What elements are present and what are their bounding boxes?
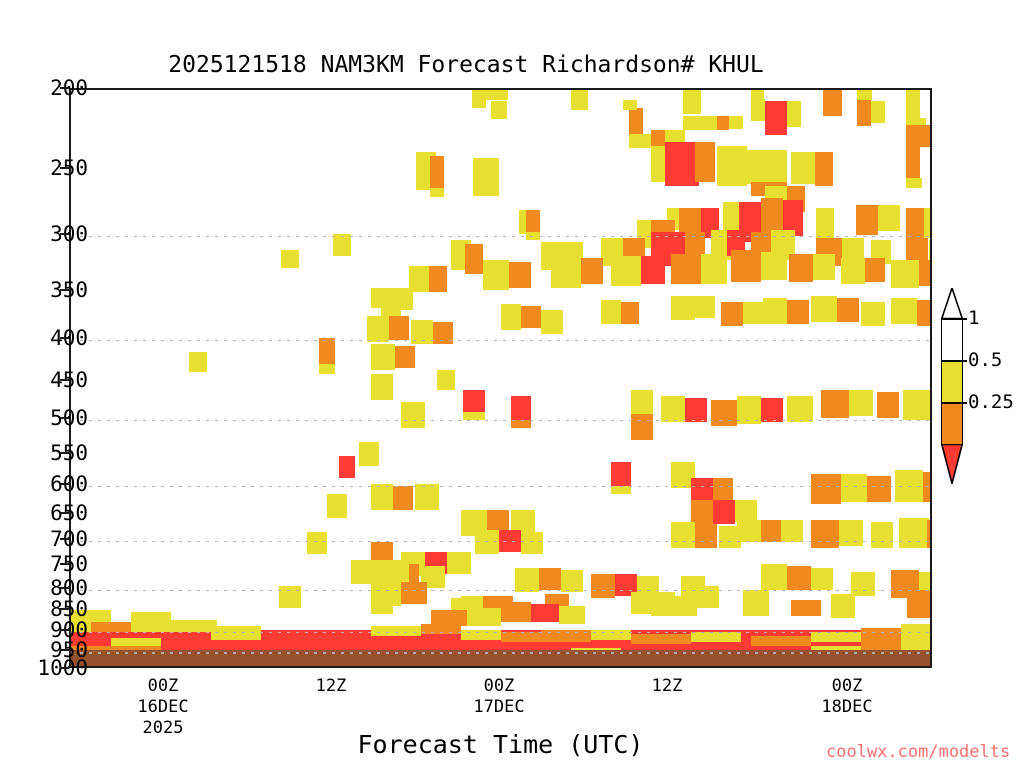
colorbar-tick-mark — [941, 402, 967, 404]
heatmap-cell — [601, 300, 621, 324]
y-tick-mark — [60, 233, 69, 235]
heatmap-cell — [865, 258, 885, 282]
heatmap-cell — [501, 602, 531, 622]
heatmap-cell — [841, 474, 867, 502]
plot-area — [69, 88, 932, 668]
y-tick-mark — [60, 379, 69, 381]
heatmap-cell — [761, 398, 783, 422]
heatmap-cell — [906, 90, 920, 120]
y-tick-label: 200 — [50, 76, 88, 100]
heatmap-cell — [903, 390, 930, 420]
heatmap-cell — [811, 296, 837, 322]
heatmap-cell — [927, 520, 930, 548]
heatmap-cell — [787, 396, 813, 422]
colorbar-segment-above-1 — [941, 318, 963, 360]
heatmap-cell — [591, 574, 615, 598]
heatmap-cell — [743, 590, 769, 616]
y-tick-label: 750 — [50, 552, 88, 576]
heatmap-cell — [685, 398, 707, 422]
heatmap-cell — [467, 608, 501, 626]
heatmap-cell — [421, 624, 461, 634]
heatmap-cell — [465, 244, 483, 274]
heatmap-cell — [891, 260, 919, 288]
heatmap-cell — [816, 208, 834, 242]
heatmap-cell — [747, 150, 787, 184]
heatmap-cell — [821, 390, 849, 418]
heatmap-cell — [351, 560, 381, 584]
heatmap-cell — [729, 116, 743, 129]
watermark: coolwx.com/modelts — [826, 742, 1010, 762]
heatmap-cell — [621, 302, 639, 324]
heatmap-cell — [906, 178, 922, 188]
heatmap-cell — [919, 260, 930, 286]
heatmap-cell — [189, 352, 207, 372]
heatmap-cell — [895, 470, 923, 502]
colorbar-tick-mark — [941, 360, 967, 362]
heatmap-cell — [429, 266, 447, 292]
heatmap-cell — [719, 526, 741, 548]
heatmap-cell — [381, 560, 409, 582]
heatmap-cell — [281, 250, 299, 268]
x-axis-label: Forecast Time (UTC) — [69, 730, 932, 759]
heatmap-cell — [906, 118, 926, 125]
heatmap-cell — [731, 250, 761, 282]
heatmap-cell — [511, 420, 531, 428]
y-tick-mark — [60, 452, 69, 454]
heatmap-cell — [631, 390, 653, 414]
y-tick-mark — [60, 87, 69, 89]
heatmap-cell — [551, 258, 581, 288]
heatmap-cell — [765, 101, 787, 135]
heatmap-cell — [447, 552, 471, 574]
heatmap-cell — [711, 400, 737, 426]
heatmap-cell — [561, 570, 583, 592]
heatmap-cell — [393, 288, 413, 310]
terrain-gridline — [71, 652, 930, 654]
heatmap-cell — [571, 90, 588, 110]
heatmap-cell — [839, 520, 863, 546]
heatmap-cell — [631, 592, 661, 614]
colorbar-bottom-arrow-icon — [941, 444, 963, 484]
heatmap-cell — [735, 500, 757, 522]
heatmap-cell — [717, 146, 747, 186]
heatmap-cell — [861, 302, 885, 326]
y-tick-mark — [60, 538, 69, 540]
y-tick-label: 500 — [50, 406, 88, 430]
heatmap-cell — [787, 300, 809, 324]
heatmap-cell — [665, 142, 699, 186]
heatmap-cell — [920, 125, 930, 147]
heatmap-cell — [371, 582, 401, 606]
heatmap-cell — [691, 632, 741, 642]
x-tick-label: 00Z17DEC — [473, 676, 524, 718]
heatmap-cell — [917, 300, 930, 326]
x-tick-date: 17DEC — [473, 697, 524, 718]
heatmap-cell — [279, 586, 301, 608]
y-tick-mark — [60, 608, 69, 610]
colorbar-tick-label: 0.25 — [968, 391, 1014, 413]
heatmap-cell — [631, 414, 653, 440]
heatmap-cell — [491, 101, 507, 119]
heatmap-cell — [371, 374, 393, 400]
heatmap-cell — [811, 520, 839, 548]
forecast-chart-page: 2025121518 NAM3KM Forecast Richardson# K… — [0, 0, 1024, 768]
x-tick-label: 12Z — [316, 676, 347, 697]
x-tick-date: 18DEC — [821, 697, 872, 718]
heatmap-cell — [815, 152, 833, 186]
heatmap-cell — [511, 396, 531, 420]
heatmap-cell — [472, 90, 486, 108]
y-tick-label: 350 — [50, 278, 88, 302]
heatmap-cell — [611, 486, 631, 494]
heatmap-cell — [781, 520, 803, 542]
heatmap-cell — [841, 258, 865, 284]
heatmap-cell — [411, 320, 433, 344]
heatmap-cell — [924, 208, 930, 238]
heatmap-cell — [899, 518, 929, 548]
heatmap-cell — [671, 296, 695, 320]
y-tick-label: 250 — [50, 156, 88, 180]
colorbar-tick-mark — [941, 318, 967, 320]
y-tick-mark — [60, 512, 69, 514]
heatmap-cell — [430, 156, 444, 190]
heatmap-cell — [486, 90, 508, 100]
heatmap-cell — [631, 634, 691, 644]
x-tick-time: 00Z — [473, 676, 524, 697]
heatmap-cell — [695, 142, 715, 182]
heatmap-cell — [671, 522, 695, 548]
heatmap-cell — [463, 412, 485, 420]
heatmap-cell — [521, 532, 543, 554]
y-tick-mark — [60, 649, 69, 651]
heatmap-cell — [509, 262, 531, 288]
heatmap-cell — [389, 316, 409, 340]
heatmap-cell — [671, 254, 701, 284]
heatmap-cell — [695, 296, 715, 318]
heatmap-cell — [371, 484, 393, 510]
heatmap-cell — [359, 442, 379, 466]
heatmap-cell — [167, 620, 217, 632]
heatmap-cell — [611, 462, 631, 486]
y-tick-mark — [60, 417, 69, 419]
heatmap-cell — [371, 288, 393, 308]
heatmap-cell — [393, 486, 413, 510]
heatmap-cell — [877, 392, 899, 418]
heatmap-cell — [789, 254, 813, 282]
y-tick-label: 800 — [50, 576, 88, 600]
heatmap-cell — [327, 494, 347, 518]
heatmap-cell — [623, 100, 637, 110]
colorbar-tick-label: 1 — [968, 307, 979, 329]
heatmap-cell — [463, 390, 485, 412]
heatmap-cell — [743, 302, 763, 324]
heatmap-cell — [823, 90, 842, 116]
heatmap-cell — [923, 472, 930, 502]
heatmap-cell — [559, 606, 585, 624]
y-tick-label: 650 — [50, 501, 88, 525]
colorbar — [941, 318, 963, 444]
heatmap-cell — [319, 364, 335, 374]
heatmap-cell — [691, 586, 719, 608]
heatmap-cell — [737, 396, 761, 424]
heatmap-cell — [849, 390, 873, 416]
heatmap-cell — [907, 590, 930, 618]
y-tick-mark — [60, 629, 69, 631]
heatmap-cell — [319, 338, 335, 364]
y-tick-label: 600 — [50, 472, 88, 496]
heatmap-cell — [791, 600, 821, 616]
chart-title: 2025121518 NAM3KM Forecast Richardson# K… — [0, 52, 932, 78]
heatmap-cell — [499, 530, 521, 552]
x-tick-time: 12Z — [652, 676, 683, 697]
heatmap-cell — [307, 532, 327, 554]
heatmap-cell — [581, 258, 603, 284]
x-tick-label: 00Z18DEC — [821, 676, 872, 718]
heatmap-cell — [683, 116, 717, 130]
heatmap-cell — [433, 322, 453, 344]
heatmap-cell — [831, 594, 855, 618]
heatmap-cell — [695, 524, 717, 548]
heatmap-cell — [131, 612, 171, 632]
heatmap-cell — [906, 121, 920, 181]
heatmap-cell — [713, 478, 733, 500]
heatmap-cell — [857, 100, 871, 126]
y-tick-label: 300 — [50, 222, 88, 246]
heatmap-cell — [787, 566, 811, 590]
heatmap-cell — [371, 626, 421, 636]
x-tick-time: 12Z — [316, 676, 347, 697]
heatmap-cell — [483, 260, 509, 290]
heatmap-cell — [861, 628, 901, 640]
heatmap-cell — [691, 478, 713, 502]
heatmap-cell — [371, 344, 395, 370]
heatmap-cell — [811, 632, 861, 642]
y-tick-mark — [60, 667, 69, 669]
heatmap-cell — [501, 304, 521, 330]
x-tick-time: 00Z — [821, 676, 872, 697]
heatmap-cell — [430, 188, 444, 197]
heatmap-cell — [751, 636, 811, 646]
heatmap-cell — [691, 500, 713, 524]
heatmap-cell — [721, 302, 743, 326]
y-tick-label: 700 — [50, 527, 88, 551]
heatmap-cell — [541, 630, 591, 642]
colorbar-segment-0.5-1 — [941, 360, 963, 402]
colorbar-segment-0.25-0.5 — [941, 402, 963, 444]
heatmap-cell — [713, 500, 735, 524]
heatmap-cell — [395, 346, 415, 368]
terrain-band — [71, 650, 930, 666]
heatmap-cell — [787, 101, 801, 127]
heatmap-cell — [901, 624, 930, 638]
heatmap-cell — [867, 476, 891, 502]
heatmap-cell — [871, 522, 893, 548]
heatmap-cell — [651, 130, 665, 146]
heatmap-cell — [813, 254, 835, 280]
heatmap-cell — [761, 520, 781, 542]
heatmap-cell — [761, 564, 787, 590]
y-tick-mark — [60, 483, 69, 485]
heatmap-cell — [611, 256, 641, 286]
heatmap-cell — [629, 134, 651, 148]
heatmap-cell — [661, 396, 685, 422]
heatmap-cell — [891, 298, 917, 324]
heatmap-cell — [857, 90, 872, 100]
heatmap-cell — [701, 254, 727, 284]
heatmap-cell — [856, 205, 878, 235]
y-tick-label: 550 — [50, 441, 88, 465]
heatmap-cell — [751, 99, 765, 121]
y-tick-mark — [60, 289, 69, 291]
heatmap-cell — [401, 582, 427, 604]
heatmap-cell — [475, 530, 499, 554]
heatmap-cell — [541, 310, 563, 334]
heatmap-cell — [111, 638, 161, 646]
heatmap-cell — [837, 298, 859, 322]
y-tick-mark — [60, 587, 69, 589]
heatmap-cell — [751, 90, 764, 99]
heatmap-cell — [526, 210, 540, 232]
heatmap-cell — [683, 90, 701, 114]
heatmap-cell — [339, 456, 355, 478]
heatmap-cell — [851, 572, 875, 596]
colorbar-tick-label: 0.5 — [968, 349, 1002, 371]
y-tick-mark — [60, 167, 69, 169]
heatmap-cell — [811, 474, 841, 504]
heatmap-cell — [473, 158, 499, 196]
heatmap-cell — [641, 256, 665, 284]
y-tick-label: 400 — [50, 326, 88, 350]
heatmap-cell — [401, 402, 425, 428]
heatmap-cell — [761, 252, 787, 280]
x-tick-time: 00Z — [137, 676, 188, 697]
heatmap-cell — [878, 205, 900, 231]
x-tick-label: 12Z — [652, 676, 683, 697]
heatmap-cell — [526, 232, 540, 240]
heatmap-cell — [811, 568, 833, 590]
x-tick-date: 16DEC — [137, 697, 188, 718]
y-tick-mark — [60, 563, 69, 565]
heatmap-cell — [437, 370, 455, 390]
colorbar-top-arrow-outline-icon — [941, 288, 963, 318]
heatmap-cell — [461, 630, 501, 640]
heatmap-cells — [71, 90, 930, 666]
heatmap-cell — [415, 484, 439, 510]
y-tick-mark — [60, 337, 69, 339]
y-tick-label: 450 — [50, 368, 88, 392]
heatmap-cell — [515, 568, 539, 592]
heatmap-cell — [717, 116, 729, 130]
heatmap-cell — [521, 306, 541, 328]
heatmap-cell — [871, 101, 885, 123]
heatmap-cell — [367, 316, 389, 342]
heatmap-cell — [333, 234, 351, 256]
heatmap-cell — [591, 630, 631, 640]
heatmap-cell — [211, 626, 261, 640]
heatmap-cell — [531, 604, 559, 622]
heatmap-cell — [539, 568, 561, 590]
heatmap-cell — [763, 298, 787, 324]
